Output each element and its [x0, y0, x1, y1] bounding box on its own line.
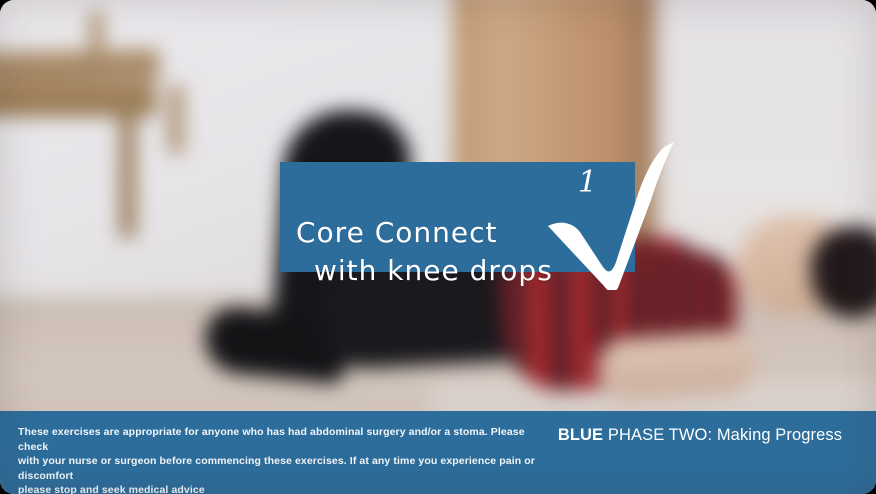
phase-brand: BLUE — [558, 426, 603, 444]
table-backrest — [18, 0, 92, 57]
footer-bar: These exercises are appropriate for anyo… — [0, 411, 876, 494]
disclaimer-text: These exercises are appropriate for anyo… — [18, 425, 538, 494]
step-number: 1 — [578, 168, 597, 198]
video-frame[interactable]: Core Connect with knee drops 1 These exe… — [0, 0, 876, 494]
table-leg-rear — [90, 12, 103, 86]
phase-text: PHASE TWO: Making Progress — [603, 426, 842, 444]
exercise-title: Core Connect with knee drops — [296, 176, 576, 328]
person-arm — [595, 330, 758, 402]
phase-label: BLUE PHASE TWO: Making Progress — [540, 425, 860, 445]
disclaimer-line-1: These exercises are appropriate for anyo… — [18, 425, 538, 454]
table-top — [0, 49, 159, 81]
table-leg-right — [120, 110, 136, 237]
exercise-title-line1: Core Connect — [296, 216, 497, 249]
disclaimer-line-2: with your nurse or surgeon before commen… — [18, 454, 538, 483]
exercise-title-line2: with knee drops — [296, 252, 576, 290]
disclaimer-line-3: please stop and seek medical advice — [18, 483, 538, 494]
table-side-bracket — [169, 86, 184, 155]
